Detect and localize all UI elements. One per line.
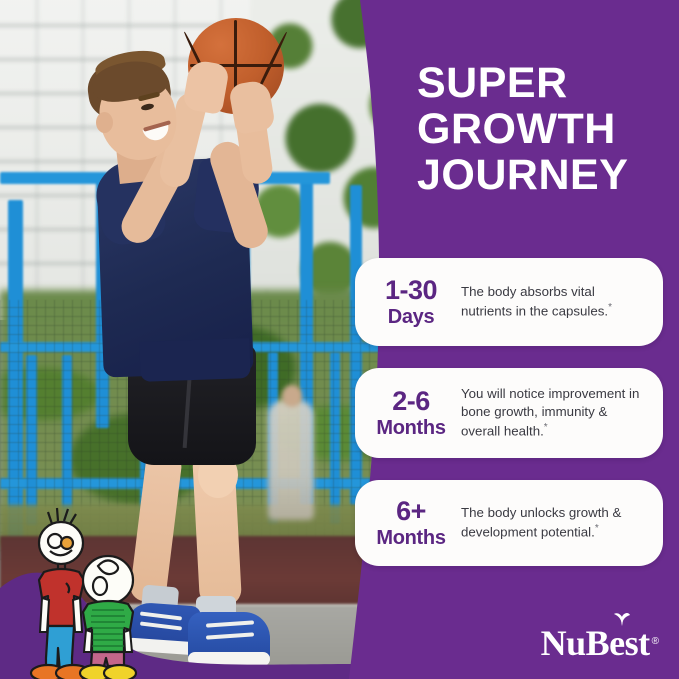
card-description: You will notice improvement in bone grow… <box>457 385 649 441</box>
card-description: The body absorbs vital nutrients in the … <box>457 283 649 321</box>
card-period-unit: Months <box>369 528 453 548</box>
promotional-infographic: SUPER GROWTH JOURNEY 1-30 Days The body … <box>0 0 679 679</box>
card-period-unit: Days <box>369 307 453 327</box>
leaf-sprout-icon <box>611 609 633 627</box>
headline-line-3: JOURNEY <box>417 152 679 198</box>
timeline-cards: 1-30 Days The body absorbs vital nutrien… <box>355 258 665 566</box>
card-period: 6+ Months <box>369 498 457 548</box>
logo-wordmark: NuBest <box>541 625 650 661</box>
footnote-marker: * <box>608 302 612 313</box>
card-period-unit: Months <box>369 418 453 438</box>
cartoon-children-illustration <box>0 0 400 679</box>
card-period: 2-6 Months <box>369 388 457 438</box>
footnote-marker: * <box>595 523 599 534</box>
card-description: The body unlocks growth & development po… <box>457 504 649 542</box>
card-period-value: 1-30 <box>369 277 453 304</box>
card-description-text: You will notice improvement in bone grow… <box>461 386 639 439</box>
headline-line-2: GROWTH <box>417 106 679 152</box>
card-period-value: 2-6 <box>369 388 453 415</box>
timeline-card: 1-30 Days The body absorbs vital nutrien… <box>355 258 663 346</box>
nubest-logo: NuBest ® <box>541 625 659 661</box>
card-description-text: The body absorbs vital nutrients in the … <box>461 284 608 319</box>
registered-trademark-symbol: ® <box>652 637 659 647</box>
footnote-marker: * <box>544 422 548 433</box>
card-period: 1-30 Days <box>369 277 457 327</box>
cartoon-child-tall <box>31 508 90 679</box>
headline-line-1: SUPER <box>417 60 679 106</box>
basketball-photo <box>0 0 400 679</box>
content-column: SUPER GROWTH JOURNEY 1-30 Days The body … <box>395 0 679 679</box>
timeline-card: 6+ Months The body unlocks growth & deve… <box>355 480 663 566</box>
timeline-card: 2-6 Months You will notice improvement i… <box>355 368 663 458</box>
cartoon-child-short <box>80 556 136 679</box>
page-title: SUPER GROWTH JOURNEY <box>417 60 679 198</box>
card-period-value: 6+ <box>369 498 453 525</box>
